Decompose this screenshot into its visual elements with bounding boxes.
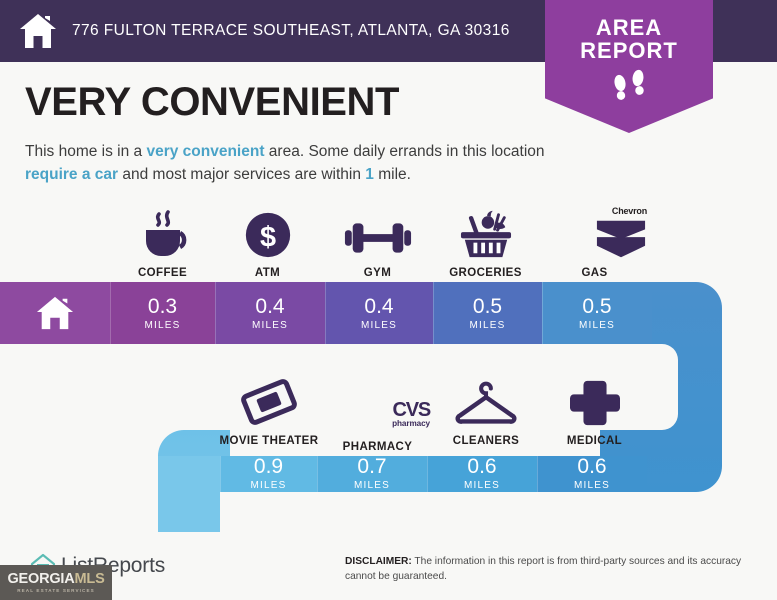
distance-unit: MILES (250, 480, 286, 491)
mls-name-part-2: MLS (75, 571, 105, 587)
home-icon (0, 282, 110, 344)
cvs-brand-sub: pharmacy (392, 420, 430, 428)
chevron-brand-text: Chevron (612, 207, 647, 216)
disclaimer: DISCLAIMER: The information in this repo… (345, 555, 765, 585)
desc-part-3: and most major services are within (118, 166, 365, 183)
amenity-gas: Chevron GAS (542, 202, 647, 279)
bar1-segment-gym: 0.4 MILES (325, 282, 433, 344)
bar-divider (433, 282, 434, 344)
medical-cross-icon (542, 370, 647, 428)
desc-highlight-3: 1 (365, 166, 374, 183)
svg-text:$: $ (259, 222, 275, 254)
coffee-cup-icon (110, 202, 215, 260)
bar-divider (542, 282, 543, 344)
amenity-medical: MEDICAL (542, 370, 647, 447)
chevron-logo-icon: Chevron (542, 202, 647, 260)
dumbbell-icon (325, 202, 430, 260)
property-address: 776 FULTON TERRACE SOUTHEAST, ATLANTA, G… (72, 22, 510, 40)
distance-unit: MILES (579, 320, 615, 331)
distance-value: 0.6 (577, 456, 606, 477)
distance-value: 0.9 (254, 456, 283, 477)
bar-divider (427, 456, 428, 492)
amenity-label: MOVIE THEATER (215, 435, 323, 447)
disclaimer-label: DISCLAIMER: (345, 556, 412, 567)
description-text: This home is in a very convenient area. … (25, 140, 565, 187)
amenity-icons-row-2: MOVIE THEATER CVS pharmacy PHARMACY CLEA… (0, 370, 777, 450)
distance-unit: MILES (361, 320, 397, 331)
distance-unit: MILES (464, 480, 500, 491)
desc-part-4: mile. (374, 166, 411, 183)
amenity-label: GAS (542, 267, 647, 279)
cvs-brand-name: CVS (392, 401, 430, 419)
bar-divider (110, 282, 111, 344)
amenity-groceries: GROCERIES (433, 202, 538, 279)
clothes-hanger-icon (433, 370, 539, 428)
bar1-segment-groceries: 0.5 MILES (433, 282, 542, 344)
distance-unit: MILES (469, 320, 505, 331)
georgia-mls-watermark: GEORGIAMLS REAL ESTATE SERVICES (0, 565, 112, 600)
movie-ticket-icon (215, 370, 323, 428)
distance-value: 0.5 (473, 296, 502, 317)
bar-divider (215, 282, 216, 344)
distance-unit: MILES (354, 480, 390, 491)
amenity-gym: GYM (325, 202, 430, 279)
bar-divider (325, 282, 326, 344)
distance-value: 0.6 (467, 456, 496, 477)
badge-line-1: AREA (545, 17, 713, 39)
bar-divider (317, 456, 318, 492)
badge-line-2: REPORT (545, 39, 713, 63)
amenity-label: ATM (215, 267, 320, 279)
area-report-badge: AREA REPORT (545, 0, 713, 133)
desc-part-1: This home is in a (25, 143, 146, 160)
distance-value: 0.7 (357, 456, 386, 477)
amenity-label: MEDICAL (542, 435, 647, 447)
distance-value: 0.3 (148, 296, 177, 317)
amenity-label: PHARMACY (325, 441, 430, 453)
grocery-basket-icon (433, 202, 538, 260)
distance-value: 0.5 (582, 296, 611, 317)
bar2-label-medical: 0.6 MILES (537, 442, 647, 504)
bar1-segment-atm: 0.4 MILES (215, 282, 325, 344)
desc-highlight-2: require a car (25, 166, 118, 183)
distance-value: 0.4 (255, 296, 284, 317)
bar-divider (537, 456, 538, 492)
area-report-page: 776 FULTON TERRACE SOUTHEAST, ATLANTA, G… (0, 0, 777, 600)
distance-unit: MILES (252, 320, 288, 331)
amenity-label: GROCERIES (433, 267, 538, 279)
amenity-label: GYM (325, 267, 430, 279)
bar2-label-movie: 0.9 MILES (220, 442, 317, 504)
desc-highlight-1: very convenient (146, 143, 264, 160)
amenity-label: COFFEE (110, 267, 215, 279)
bar1-segment-gas: 0.5 MILES (542, 282, 652, 344)
mls-name: GEORGIAMLS (7, 572, 104, 587)
amenity-cleaners: CLEANERS (433, 370, 539, 447)
cvs-pharmacy-icon: CVS pharmacy (325, 370, 430, 434)
bar1-segment-coffee: 0.3 MILES (110, 282, 215, 344)
footprints-icon (545, 68, 713, 102)
desc-part-2: area. Some daily errands in this locatio… (265, 143, 545, 160)
amenity-label: CLEANERS (433, 435, 539, 447)
distance-unit: MILES (574, 480, 610, 491)
mls-tagline: REAL ESTATE SERVICES (17, 588, 95, 593)
mls-name-part-1: GEORGIA (7, 571, 74, 587)
amenity-icons-row-1: COFFEE $ ATM GYM (0, 202, 777, 280)
bar1-home-segment (0, 282, 110, 344)
amenity-atm: $ ATM (215, 202, 320, 279)
distance-unit: MILES (144, 320, 180, 331)
amenity-coffee: COFFEE (110, 202, 215, 279)
dollar-coin-icon: $ (215, 202, 320, 260)
distance-value: 0.4 (364, 296, 393, 317)
amenity-movie-theater: MOVIE THEATER (215, 370, 323, 447)
bar-divider (220, 456, 221, 492)
bar2-label-cleaners: 0.6 MILES (427, 442, 537, 504)
amenity-pharmacy: CVS pharmacy PHARMACY (325, 370, 430, 453)
page-title: VERY CONVENIENT (25, 80, 399, 125)
house-icon (18, 12, 58, 50)
